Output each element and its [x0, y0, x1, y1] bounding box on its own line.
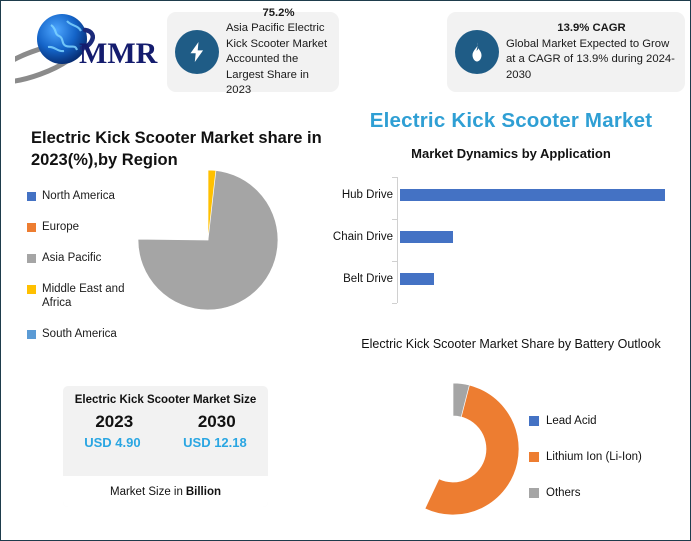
badge-1-text: 75.2% Asia Pacific Electric Kick Scooter… [226, 6, 331, 99]
bar-row: Chain Drive [331, 231, 681, 243]
market-size-footer-prefix: Market Size in [110, 486, 183, 498]
bar-track [400, 231, 678, 243]
slice-lithium-ion-li-ion- [425, 383, 519, 515]
axis-tick [392, 219, 397, 220]
badge-2-text: 13.9% CAGR Global Market Expected to Gro… [506, 21, 677, 83]
donut-svg [383, 379, 523, 519]
donut-chart-legend: Lead Acid Lithium Ion (Li-Ion) Others [529, 415, 642, 523]
region-pie-chart [136, 169, 286, 311]
badge-1-body: Asia Pacific Electric Kick Scooter Marke… [226, 22, 327, 96]
market-size-footer-unit: Billion [186, 486, 221, 498]
legend-item: Middle East and Africa [27, 282, 147, 310]
market-size-box: Electric Kick Scooter Market Size 2023 2… [63, 386, 268, 507]
bar-label: Hub Drive [331, 189, 400, 201]
legend-swatch-middle-east-africa [27, 285, 36, 294]
market-size-value-2030: USD 12.18 [183, 435, 247, 450]
bar-fill-hub-drive [400, 189, 665, 201]
bar-label: Belt Drive [331, 273, 400, 285]
market-size-years: 2023 2030 [63, 412, 268, 432]
legend-label: North America [42, 189, 115, 203]
market-size-year-2023: 2023 [95, 412, 133, 432]
legend-swatch-others [529, 488, 539, 498]
legend-label: Middle East and Africa [42, 282, 147, 310]
lightning-bolt-icon [175, 30, 219, 74]
mmr-logo: MMR [15, 7, 165, 85]
market-dynamics-bar-chart: Hub Drive Chain Drive Belt Drive [331, 173, 681, 308]
market-size-value-2023: USD 4.90 [84, 435, 140, 450]
legend-label: South America [42, 327, 117, 341]
bar-row: Belt Drive [331, 273, 681, 285]
pie-chart-legend: North America Europe Asia Pacific Middle… [27, 189, 147, 358]
market-size-footer: Market Size in Billion [63, 476, 268, 507]
badge-1-headline: 75.2% [226, 6, 331, 22]
legend-item: Asia Pacific [27, 251, 147, 265]
legend-label: Others [546, 487, 581, 499]
legend-item: South America [27, 327, 147, 341]
bar-fill-chain-drive [400, 231, 453, 243]
legend-swatch-asia-pacific [27, 254, 36, 263]
flame-icon [455, 30, 499, 74]
badge-cagr: 13.9% CAGR Global Market Expected to Gro… [447, 12, 685, 92]
market-size-year-2030: 2030 [198, 412, 236, 432]
axis-tick [392, 303, 397, 304]
legend-item: Others [529, 487, 642, 499]
battery-donut-chart [383, 379, 523, 519]
page-title: Electric Kick Scooter Market [341, 109, 681, 133]
legend-item: Europe [27, 220, 147, 234]
bar-label: Chain Drive [331, 231, 400, 243]
legend-item: Lithium Ion (Li-Ion) [529, 451, 642, 463]
market-size-values: USD 4.90 USD 12.18 [63, 435, 268, 450]
pie-svg [136, 169, 286, 311]
legend-label: Europe [42, 220, 79, 234]
logo-text: MMR [79, 37, 158, 70]
badge-2-body: Global Market Expected to Grow at a CAGR… [506, 38, 675, 81]
infographic-page: MMR 75.2% Asia Pacific Electric Kick Sco… [0, 0, 691, 541]
badge-asia-pacific-share: 75.2% Asia Pacific Electric Kick Scooter… [167, 12, 339, 92]
pie-chart-title: Electric Kick Scooter Market share in 20… [31, 127, 331, 171]
bar-chart-title: Market Dynamics by Application [346, 146, 676, 161]
market-size-title: Electric Kick Scooter Market Size [63, 393, 268, 408]
legend-label: Lead Acid [546, 415, 597, 427]
bar-row: Hub Drive [331, 189, 681, 201]
axis-tick [392, 177, 397, 178]
bar-track [400, 273, 678, 285]
legend-swatch-north-america [27, 192, 36, 201]
legend-swatch-lead-acid [529, 416, 539, 426]
legend-item: North America [27, 189, 147, 203]
legend-swatch-lithium-ion [529, 452, 539, 462]
donut-chart-title: Electric Kick Scooter Market Share by Ba… [351, 335, 671, 353]
bar-fill-belt-drive [400, 273, 434, 285]
legend-item: Lead Acid [529, 415, 642, 427]
axis-tick [392, 261, 397, 262]
legend-swatch-europe [27, 223, 36, 232]
bar-track [400, 189, 678, 201]
legend-swatch-south-america [27, 330, 36, 339]
legend-label: Lithium Ion (Li-Ion) [546, 451, 642, 463]
legend-label: Asia Pacific [42, 251, 101, 265]
badge-2-headline: 13.9% CAGR [506, 21, 677, 37]
